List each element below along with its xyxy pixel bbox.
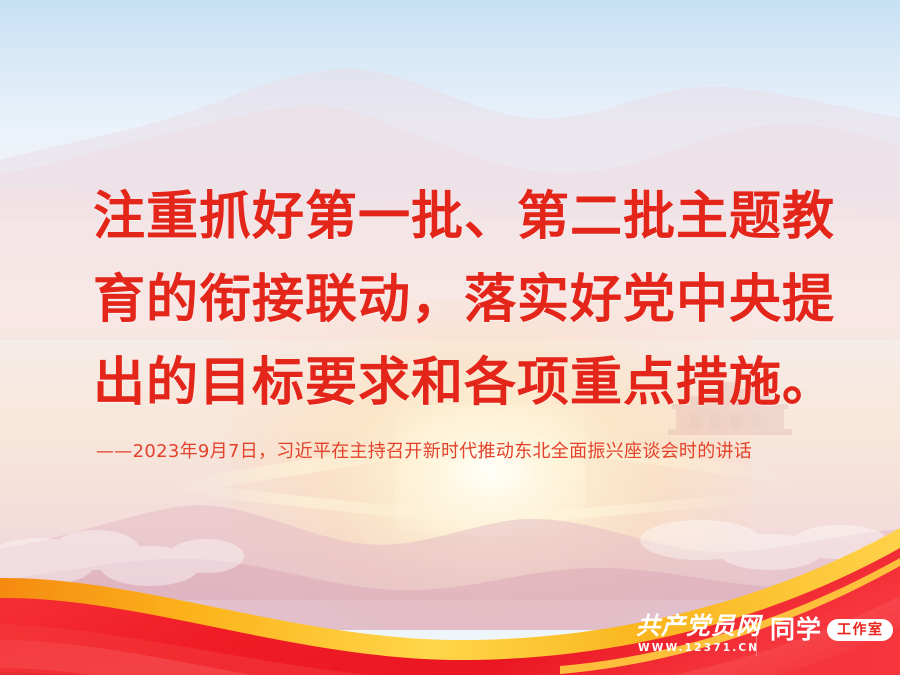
quote-line-3: 出的目标要求和各项重点措施。 — [93, 342, 833, 425]
brand-logo[interactable]: 共产党员网 WWW.12371.CN — [636, 612, 756, 655]
poster-canvas: 注重抓好第一批、第二批主题教 育的衔接联动，落实好党中央提 出的目标要求和各项重… — [0, 0, 900, 675]
footer-logo-group[interactable]: 共产党员网 WWW.12371.CN 同学 工作室 — [636, 612, 893, 655]
quote-block: 注重抓好第一批、第二批主题教 育的衔接联动，落实好党中央提 出的目标要求和各项重… — [93, 176, 833, 425]
quote-attribution: ——2023年9月7日，习近平在主持召开新时代推动东北全面振兴座谈会时的讲话 — [96, 436, 826, 467]
quote-line-1: 注重抓好第一批、第二批主题教 — [93, 176, 833, 259]
logo-divider — [756, 616, 757, 656]
quote-line-2: 育的衔接联动，落实好党中央提 — [93, 259, 833, 342]
studio-logo[interactable]: 同学 工作室 — [770, 616, 893, 644]
brand-url: WWW.12371.CN — [638, 641, 756, 655]
studio-badge: 工作室 — [827, 619, 893, 641]
brand-name: 共产党员网 — [636, 612, 756, 640]
cloud-sea — [0, 470, 900, 620]
studio-name: 同学 — [770, 616, 822, 644]
